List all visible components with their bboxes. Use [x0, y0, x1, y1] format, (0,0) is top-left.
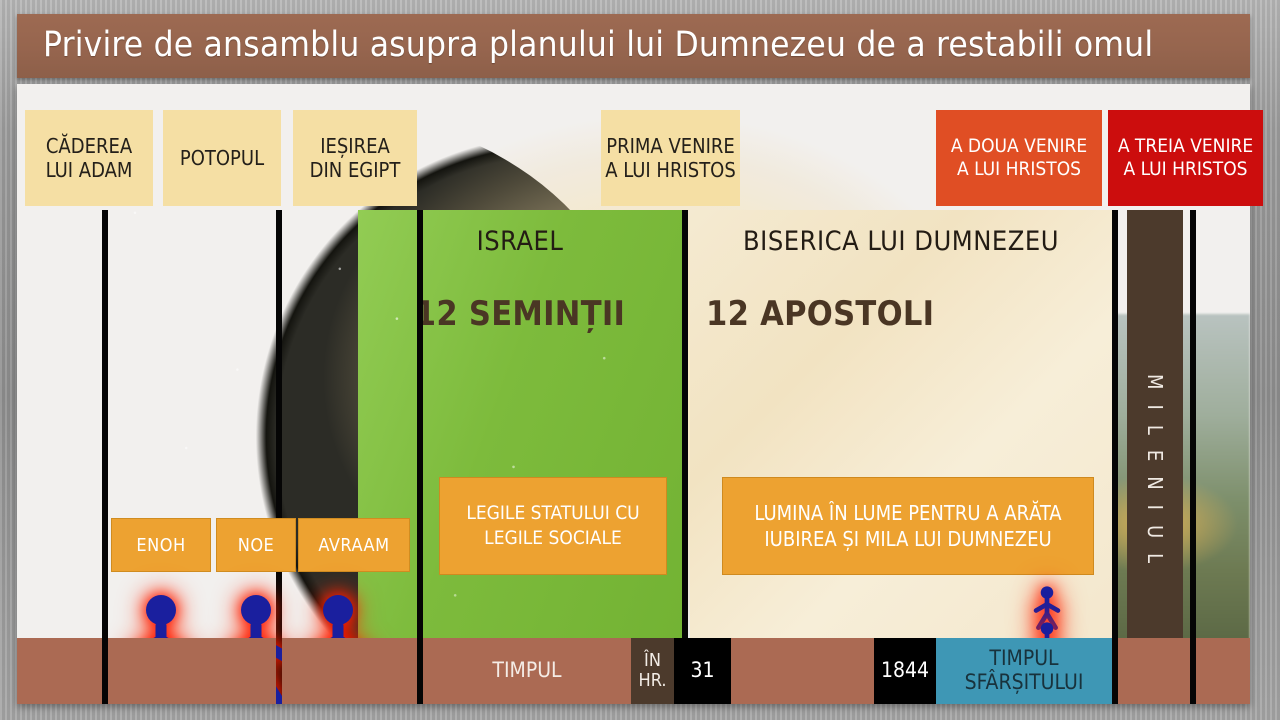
divider-rule-prima: [682, 210, 688, 704]
event-label-a-treia-venire: A TREIA VENIRE A LUI HRISTOS: [1108, 110, 1263, 206]
israel-law-line2: LEGILE SOCIALE: [484, 526, 622, 551]
event-atreia-line2: A LUI HRISTOS: [1123, 158, 1247, 181]
panel-israel: ISRAEL 12 SEMINȚII: [358, 210, 682, 704]
timeline-timpul-label: TIMPUL: [492, 659, 561, 683]
timeline-segment: [108, 638, 276, 704]
timeline-segment: [1196, 638, 1250, 704]
chip-avraam-label: AVRAAM: [318, 535, 389, 556]
divider-rule-adoua: [1112, 210, 1118, 704]
timeline-segment-in-hr: ÎN HR.: [631, 638, 674, 704]
church-mission-line1: LUMINA ÎN LUME PENTRU A ARĂTA: [754, 500, 1061, 526]
slide-title-bar: Privire de ansamblu asupra planului lui …: [17, 14, 1250, 78]
timeline-bar: TIMPUL ÎN HR. 31 1844 TIMPUL SFÂRȘITULUI: [17, 638, 1250, 704]
event-label-prima-venire: PRIMA VENIRE A LUI HRISTOS: [601, 110, 740, 206]
chip-noe: NOE: [216, 518, 296, 572]
israel-law-box: LEGILE STATULUI CU LEGILE SOCIALE: [439, 477, 667, 575]
chip-avraam: AVRAAM: [298, 518, 410, 572]
timeline-segment: [731, 638, 874, 704]
timeline-segment: [1118, 638, 1190, 704]
event-adam-line2: LUI ADAM: [46, 158, 133, 182]
timeline-segment-end-time: TIMPUL SFÂRȘITULUI: [936, 638, 1112, 704]
event-adoua-line2: A LUI HRISTOS: [957, 158, 1081, 181]
divider-rule-egipt: [417, 210, 423, 704]
israel-law-line1: LEGILE STATULUI CU: [466, 501, 639, 526]
chip-enoh: ENOH: [111, 518, 211, 572]
chip-noe-label: NOE: [238, 535, 275, 556]
event-prima-line2: A LUI HRISTOS: [605, 158, 736, 182]
event-egipt-line2: DIN EGIPT: [310, 158, 401, 182]
millennium-label: MILENIUL: [1143, 374, 1167, 578]
event-potop-line1: POTOPUL: [180, 146, 264, 170]
event-label-caderea-lui-adam: CĂDEREA LUI ADAM: [25, 110, 153, 206]
event-label-iesirea-din-egipt: IEȘIREA DIN EGIPT: [293, 110, 417, 206]
event-egipt-line1: IEȘIREA: [320, 134, 390, 158]
timeline-segment: [17, 638, 102, 704]
timeline-endtime-line1: TIMPUL: [965, 647, 1084, 671]
timeline-inhr-line1: ÎN: [639, 651, 667, 671]
event-atreia-line1: A TREIA VENIRE: [1118, 135, 1253, 158]
divider-rule-atreia: [1190, 210, 1196, 704]
event-prima-line1: PRIMA VENIRE: [606, 134, 735, 158]
timeline-inhr-line2: HR.: [639, 671, 667, 691]
timeline-segment-timpul: TIMPUL: [423, 638, 631, 704]
event-label-potopul: POTOPUL: [163, 110, 281, 206]
church-mission-line2: IUBIREA ȘI MILA LUI DUMNEZEU: [764, 526, 1051, 552]
timeline-segment-1844: 1844: [874, 638, 936, 704]
event-adoua-line1: A DOUA VENIRE: [951, 135, 1087, 158]
panel-israel-title: ISRAEL: [358, 226, 682, 257]
millennium-bar: MILENIUL: [1127, 210, 1183, 704]
chip-enoh-label: ENOH: [136, 535, 185, 556]
divider-rule-adam: [102, 210, 108, 704]
event-adam-line1: CĂDEREA: [46, 134, 132, 158]
panel-israel-subtitle: 12 SEMINȚII: [358, 294, 682, 334]
event-label-a-doua-venire: A DOUA VENIRE A LUI HRISTOS: [936, 110, 1102, 206]
panel-church-title: BISERICA LUI DUMNEZEU: [690, 226, 1112, 257]
church-mission-box: LUMINA ÎN LUME PENTRU A ARĂTA IUBIREA ȘI…: [722, 477, 1094, 575]
desktop-background: Privire de ansamblu asupra planului lui …: [0, 0, 1280, 720]
panel-church-subtitle: 12 APOSTOLI: [706, 294, 934, 334]
timeline-year-1844: 1844: [881, 659, 929, 683]
page-title: Privire de ansamblu asupra planului lui …: [43, 25, 1153, 65]
timeline-segment: [282, 638, 417, 704]
timeline-segment-31: 31: [674, 638, 731, 704]
timeline-endtime-line2: SFÂRȘITULUI: [965, 671, 1084, 695]
timeline-year-31: 31: [690, 659, 714, 683]
